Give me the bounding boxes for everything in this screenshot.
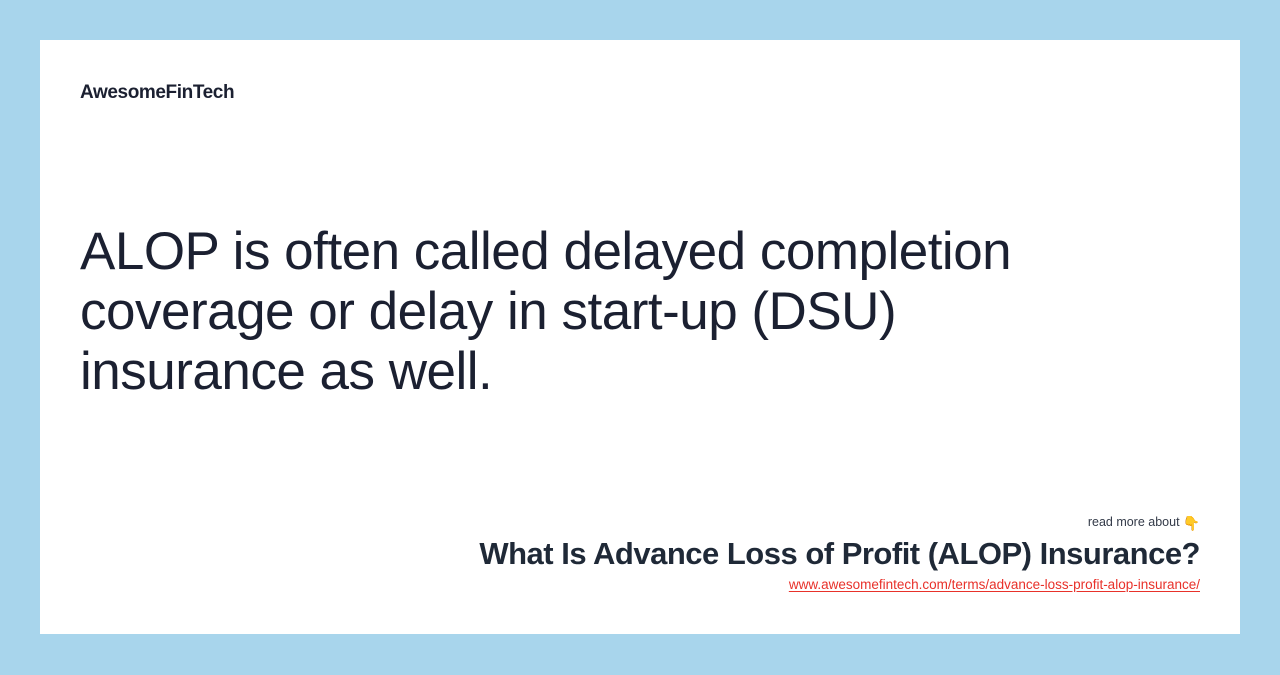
pointing-down-hand-icon: 👇 <box>1183 515 1200 531</box>
article-title: What Is Advance Loss of Profit (ALOP) In… <box>220 535 1200 573</box>
quote-card-canvas: AwesomeFinTech ALOP is often called dela… <box>0 0 1280 675</box>
article-footer: read more about👇 What Is Advance Loss of… <box>220 514 1200 594</box>
read-more-kicker: read more about👇 <box>220 514 1200 531</box>
read-more-label: read more about <box>1088 515 1180 529</box>
quote-text-block: ALOP is often called delayed completion … <box>80 222 1090 402</box>
quote-line: coverage or delay in start-up (DSU) <box>80 282 1090 342</box>
content-card: AwesomeFinTech ALOP is often called dela… <box>40 40 1240 634</box>
brand-logo-text: AwesomeFinTech <box>80 82 234 104</box>
quote-line: ALOP is often called delayed completion <box>80 222 1090 282</box>
quote-line: insurance as well. <box>80 342 1090 402</box>
article-url-link[interactable]: www.awesomefintech.com/terms/advance-los… <box>789 576 1200 594</box>
